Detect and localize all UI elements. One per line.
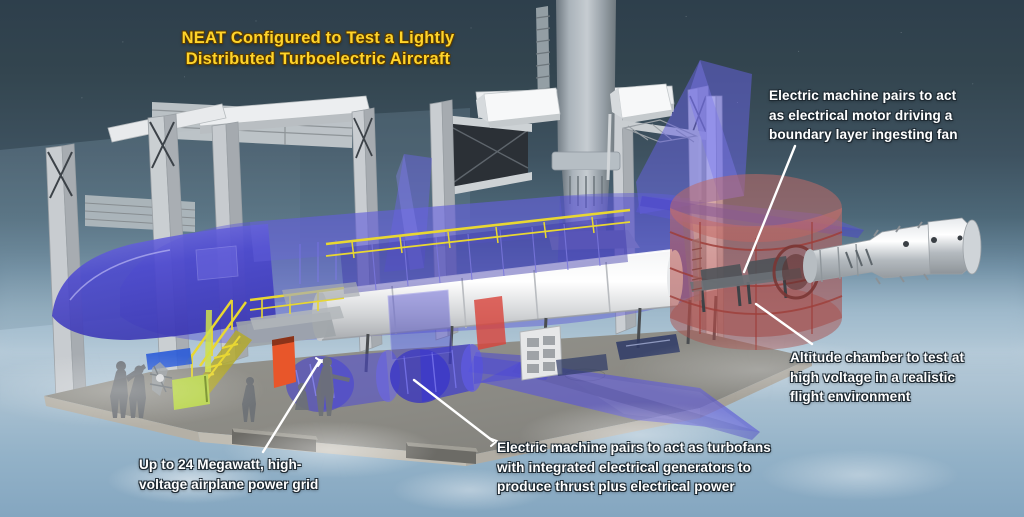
utility-pole — [205, 310, 212, 372]
scene-render — [0, 0, 1024, 517]
illustration-canvas: NEAT Configured to Test a Lightly Distri… — [0, 0, 1024, 517]
